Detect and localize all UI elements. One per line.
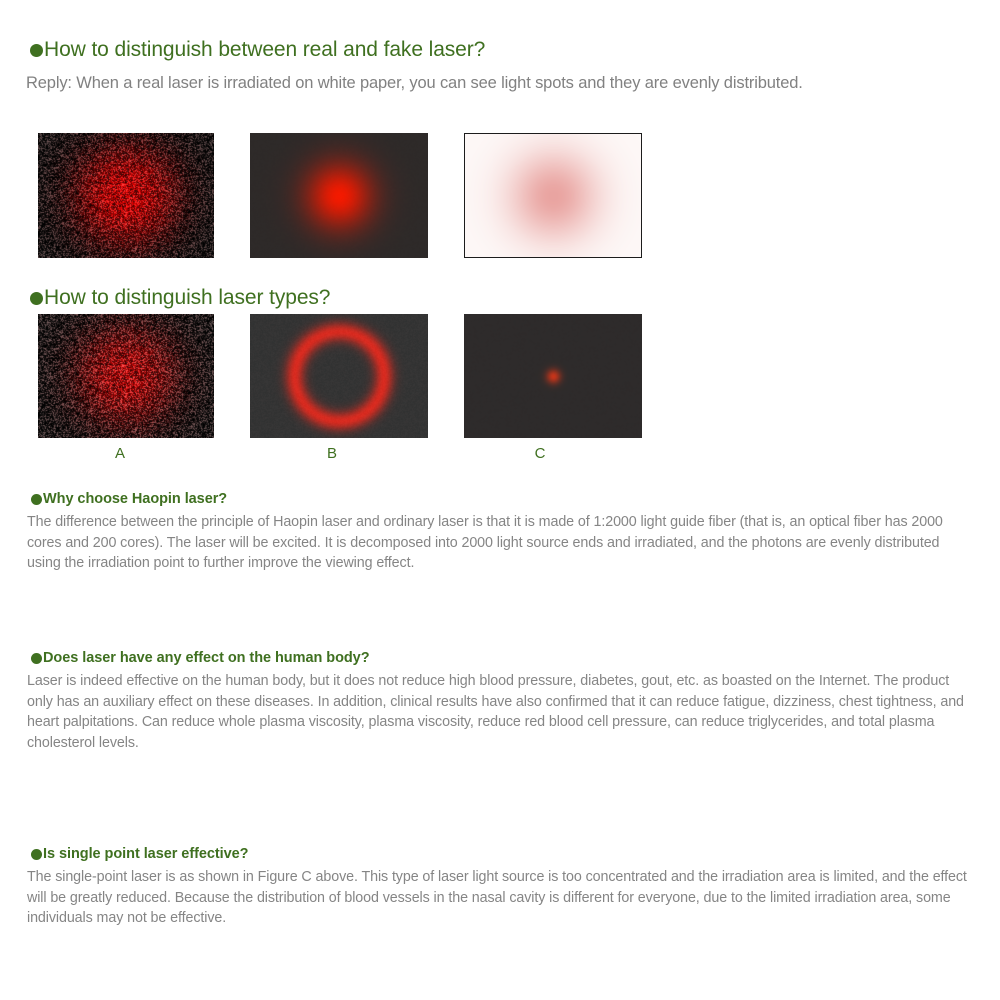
bullet-icon xyxy=(31,494,42,505)
bullet-icon xyxy=(30,44,43,57)
figure-noisy-red-spot xyxy=(38,133,214,258)
heading-text: Does laser have any effect on the human … xyxy=(43,650,370,666)
figure-laser-type-a xyxy=(38,314,214,438)
body-single-point-effective: The single-point laser is as shown in Fi… xyxy=(27,867,972,929)
figure-smooth-red-spot xyxy=(250,133,428,258)
heading-text: How to distinguish between real and fake… xyxy=(44,38,485,62)
body-real-vs-fake: Reply: When a real laser is irradiated o… xyxy=(26,70,886,97)
body-human-body-effect: Laser is indeed effective on the human b… xyxy=(27,671,967,753)
figure-laser-type-b xyxy=(250,314,428,438)
heading-human-body-effect: Does laser have any effect on the human … xyxy=(31,650,370,666)
heading-text: Is single point laser effective? xyxy=(43,846,249,862)
figure-pale-red-spot-on-white xyxy=(464,133,642,258)
heading-text: Why choose Haopin laser? xyxy=(43,491,227,507)
bullet-icon xyxy=(30,292,43,305)
heading-real-vs-fake: How to distinguish between real and fake… xyxy=(30,38,485,62)
figure-label-a: A xyxy=(100,445,140,462)
figure-label-b: B xyxy=(312,445,352,462)
heading-text: How to distinguish laser types? xyxy=(44,286,330,310)
body-why-haopin: The difference between the principle of … xyxy=(27,512,975,574)
heading-laser-types: How to distinguish laser types? xyxy=(30,286,330,310)
heading-single-point-effective: Is single point laser effective? xyxy=(31,846,249,862)
bullet-icon xyxy=(31,849,42,860)
heading-why-haopin: Why choose Haopin laser? xyxy=(31,491,227,507)
faq-page: How to distinguish between real and fake… xyxy=(0,0,1000,1000)
bullet-icon xyxy=(31,653,42,664)
figure-label-c: C xyxy=(520,445,560,462)
figure-laser-type-c xyxy=(464,314,642,438)
